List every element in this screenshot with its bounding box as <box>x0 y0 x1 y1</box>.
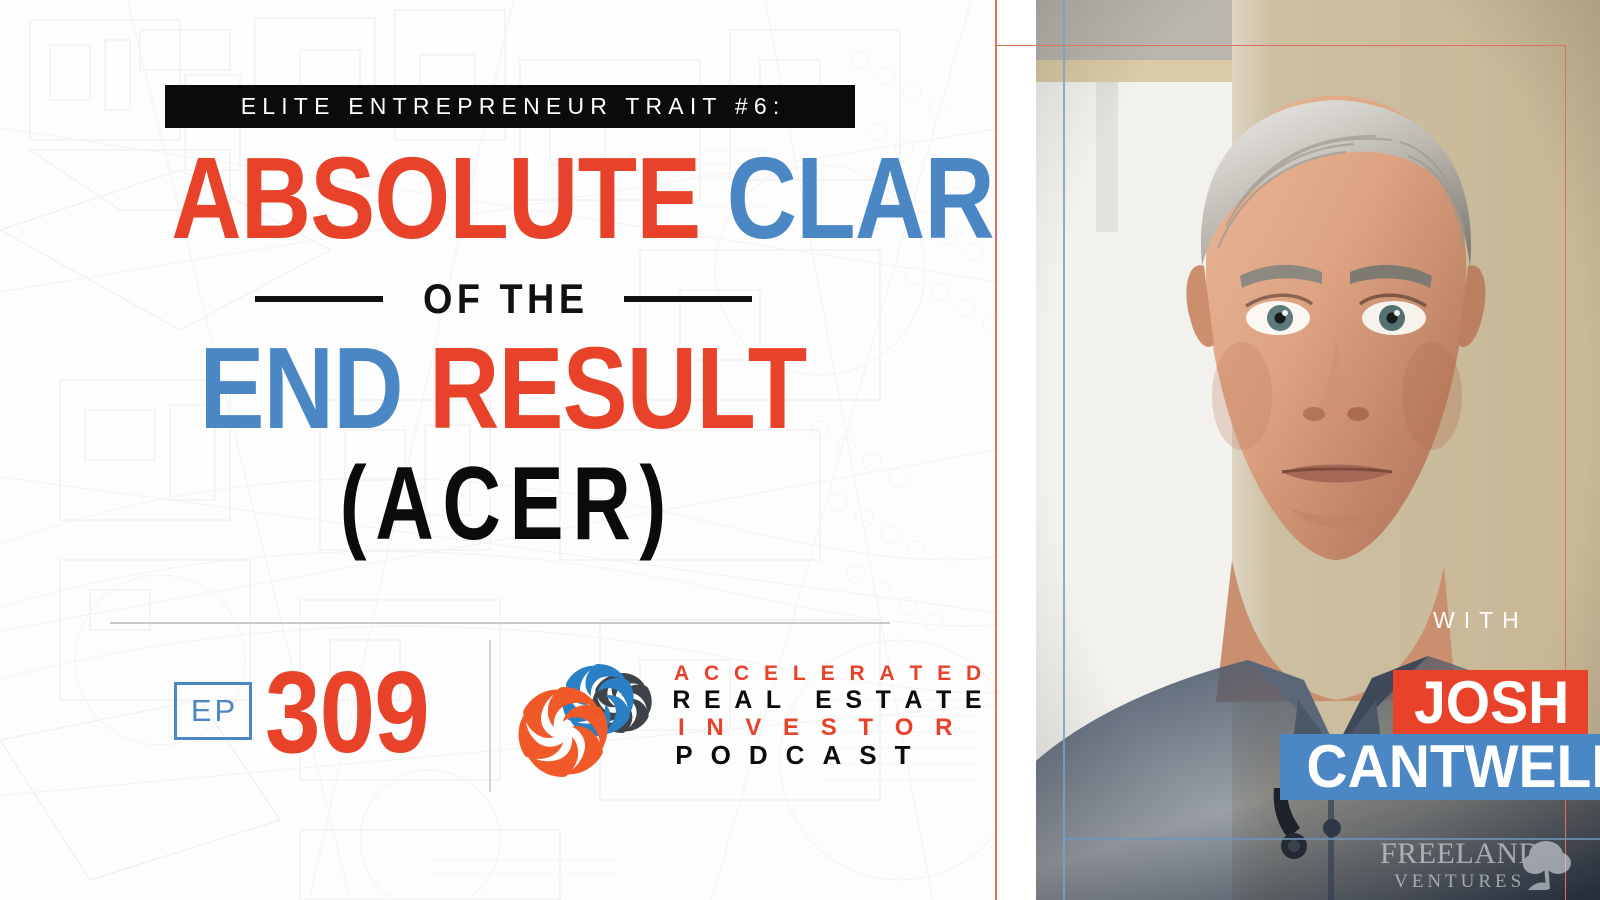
left-content-panel: ELITE ENTREPRENEUR TRAIT #6: ABSOLUTE CL… <box>0 0 1000 900</box>
guest-last-name: CANTWELL <box>1306 737 1600 797</box>
podcast-logo-wordmark: A C C E L E R A T E D R E A L E S T A T … <box>668 662 894 770</box>
episode-label-text: EP <box>188 693 238 729</box>
kicker-label: ELITE ENTREPRENEUR TRAIT #6: <box>235 93 786 120</box>
podcast-logo-line-2: R E A L E S T A T E <box>668 686 894 714</box>
episode-label-badge: EP <box>174 682 252 740</box>
with-label: WITH <box>1424 607 1528 634</box>
guest-first-name: JOSH <box>1414 673 1569 733</box>
footer-horizontal-divider <box>110 622 890 624</box>
connector-row: OF THE <box>108 274 898 324</box>
podcast-logo: A C C E L E R A T E D R E A L E S T A T … <box>516 650 896 790</box>
footer-vertical-divider <box>489 640 491 792</box>
episode-number: 309 <box>265 654 429 770</box>
connector-rule-right <box>624 296 752 302</box>
connector-label: OF THE <box>418 275 588 323</box>
podcast-logo-line-4: P O D C A S T <box>668 741 894 770</box>
headline-word-clarity: CLARITY <box>727 133 1000 263</box>
podcast-logo-line-3: I N V E S T O R <box>668 714 894 741</box>
podcast-logo-line-1: A C C E L E R A T E D <box>668 662 894 686</box>
podcast-episode-cover: ELITE ENTREPRENEUR TRAIT #6: ABSOLUTE CL… <box>0 0 1600 900</box>
guest-first-name-block: JOSH <box>1393 670 1588 736</box>
aperture-pinwheel-mark <box>516 654 666 788</box>
headline-word-end: END <box>200 323 429 453</box>
acronym-label: (ACER) <box>195 452 811 556</box>
headline-word-absolute: ABSOLUTE <box>171 133 726 263</box>
headline-word-result: RESULT <box>429 323 806 453</box>
headline-line-1: ABSOLUTE CLARITY <box>171 140 835 256</box>
guest-last-name-block: CANTWELL <box>1280 734 1600 800</box>
kicker-bar: ELITE ENTREPRENEUR TRAIT #6: <box>165 85 855 128</box>
connector-rule-left <box>255 296 383 302</box>
headline-line-2: END RESULT <box>171 330 835 446</box>
